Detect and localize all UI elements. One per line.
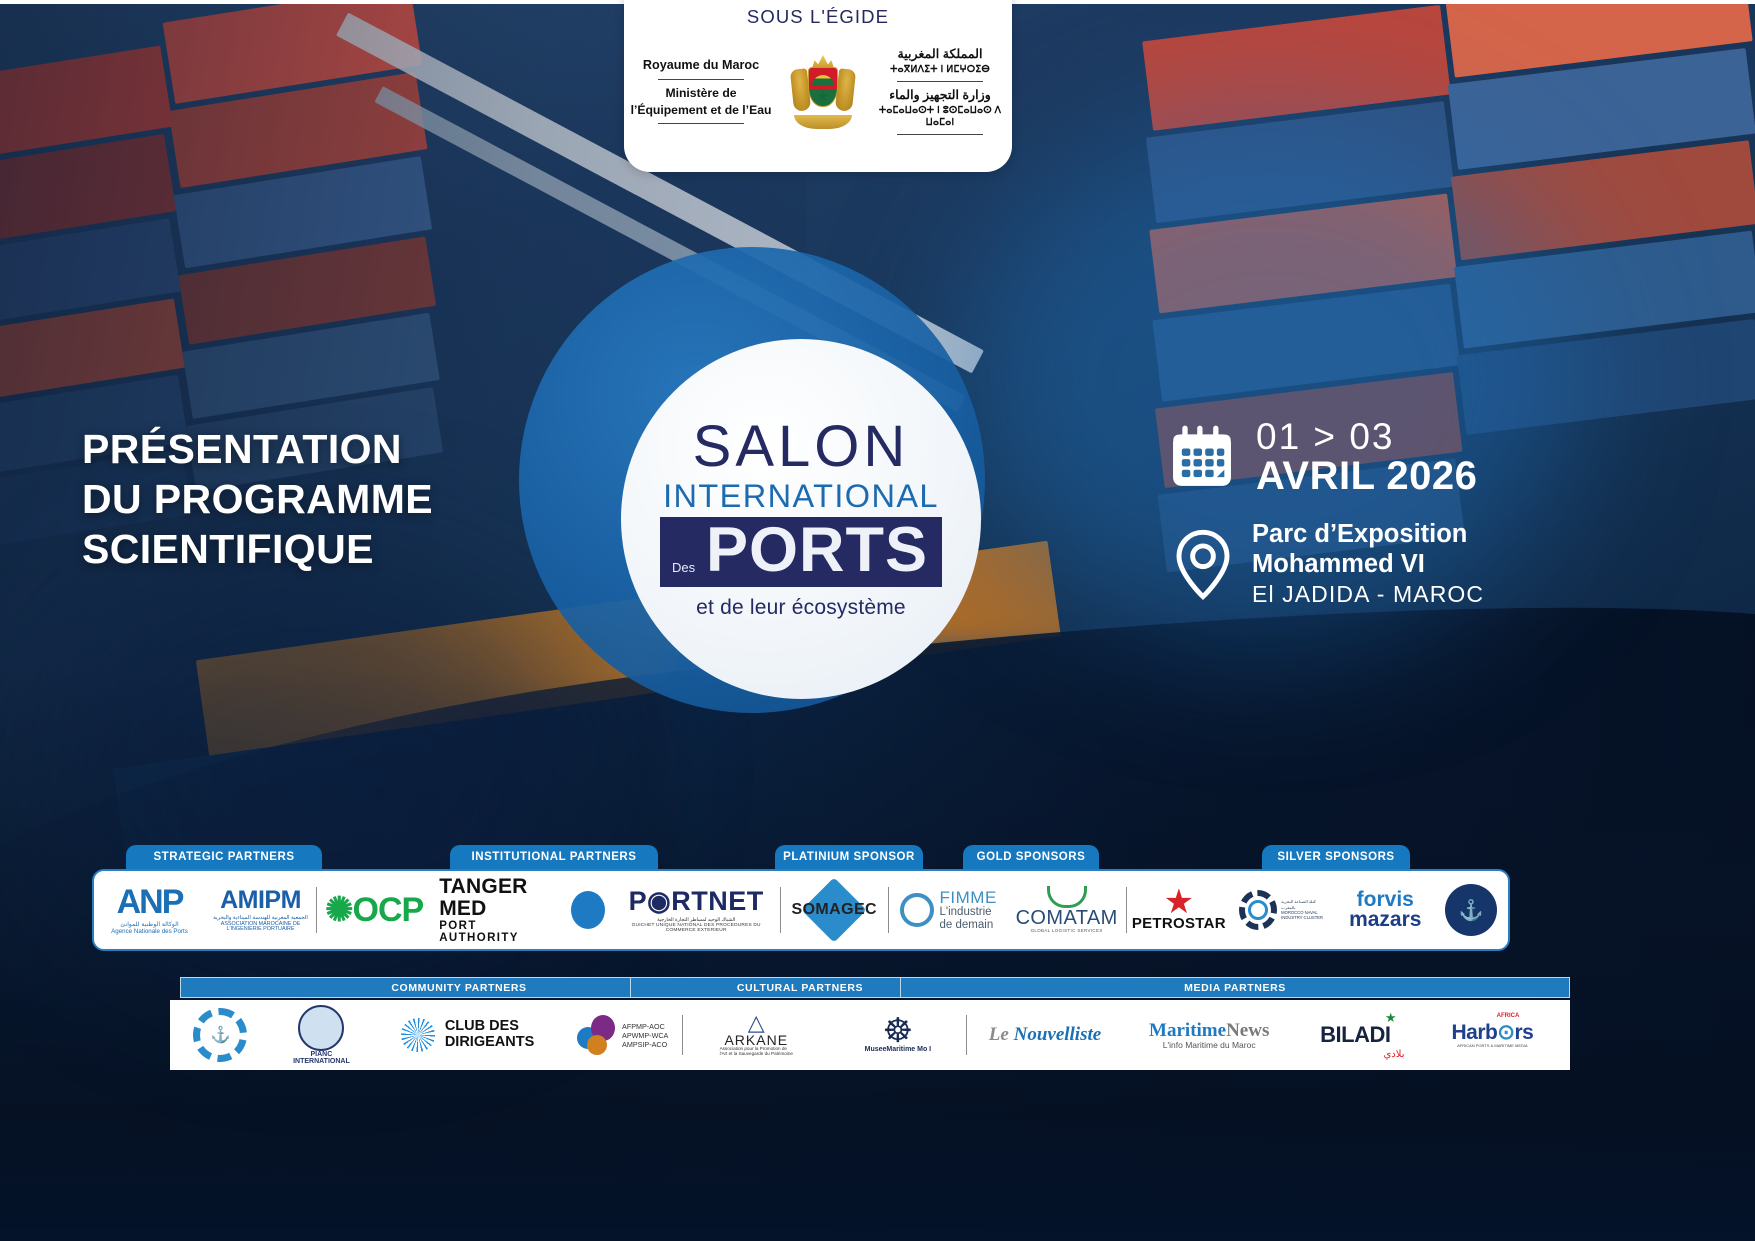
- divider-ar-bottom: [897, 134, 983, 135]
- kingdom-label-tifinagh: ⵜⴰⴳⵍⴷⵉⵜ ⵏ ⵍⵎⵖⵔⵉⴱ: [870, 63, 1010, 76]
- logo-tanger-med-mark[interactable]: [563, 871, 613, 949]
- event-logo: SALON INTERNATIONAL Des PORTS et de leur…: [621, 339, 981, 699]
- logo-ports-block: Des PORTS: [660, 517, 942, 587]
- logo-portnet[interactable]: P◉RTNET الشباك الوحيد لمساطر التجارة الخ…: [613, 871, 780, 949]
- venue-line-1: Parc d’Exposition: [1252, 520, 1484, 550]
- tab-platinium-sponsor[interactable]: PLATINIUM SPONSOR: [775, 845, 923, 869]
- patronage-row: Royaume du Maroc Ministère de l’Équipeme…: [626, 46, 1010, 140]
- divider-fr-top: [658, 79, 744, 80]
- tab-strategic-partners[interactable]: STRATEGIC PARTNERS: [126, 845, 322, 869]
- ministry-label-fr-2: l’Équipement et de l’Eau: [626, 102, 776, 118]
- venue-line-3: El JADIDA - MAROC: [1252, 580, 1484, 610]
- logo-le-nouvelliste[interactable]: Le Nouvelliste: [967, 1000, 1122, 1070]
- divider-fr-bottom: [658, 123, 744, 124]
- kingdom-label-fr: Royaume du Maroc: [626, 57, 776, 74]
- ministry-label-tifinagh: ⵜⴰⵎⴰⵡⴰⵙⵜ ⵏ ⵓⵙⵎⴰⵡⴰⵙ ⴷ ⵡⴰⵎⴰⵏ: [870, 104, 1010, 129]
- ministry-french-block: Royaume du Maroc Ministère de l’Équipeme…: [626, 57, 776, 129]
- tab-gold-sponsors[interactable]: GOLD SPONSORS: [963, 845, 1099, 869]
- logo-pianc-international[interactable]: PIANCINTERNATIONAL: [271, 1000, 372, 1070]
- venue-line-2: Mohammed VI: [1252, 550, 1484, 580]
- logo-chambre-commerce-casablanca[interactable]: ⚓: [1434, 871, 1508, 949]
- page-title: PRÉSENTATION DU PROGRAMME SCIENTIFIQUE: [82, 424, 433, 574]
- event-venue-text: Parc d’Exposition Mohammed VI El JADIDA …: [1252, 520, 1484, 610]
- location-pin-icon: [1174, 529, 1232, 601]
- ministry-label-fr-1: Ministère de: [626, 85, 776, 101]
- logo-ocp[interactable]: ✺OCP: [317, 871, 431, 949]
- morocco-coat-of-arms-icon: ★: [790, 55, 856, 131]
- logo-tanger-med[interactable]: TANGER MED PORT AUTHORITY: [431, 871, 563, 949]
- event-venue-row: Parc d’Exposition Mohammed VI El JADIDA …: [1168, 520, 1484, 610]
- sponsor-logo-strip-1: ANP الوكالة الوطنية للموانئAgence Nation…: [92, 869, 1510, 951]
- kingdom-label-ar: المملكة المغربية: [870, 46, 1010, 63]
- sponsor-tabs-row-1: STRATEGIC PARTNERS INSTITUTIONAL PARTNER…: [0, 845, 1755, 869]
- logo-forvis-mazars[interactable]: forvis mazars: [1336, 871, 1434, 949]
- page-title-line-3: SCIENTIFIQUE: [82, 524, 433, 574]
- logo-pmawca-agpaoc[interactable]: ⚓: [170, 1000, 271, 1070]
- ministry-arabic-block: المملكة المغربية ⵜⴰⴳⵍⴷⵉⵜ ⵏ ⵍⵎⵖⵔⵉⴱ وزارة …: [870, 46, 1010, 140]
- poster-root: SOUS L'ÉGIDE Royaume du Maroc Ministère …: [0, 0, 1755, 1241]
- tab-silver-sponsors[interactable]: SILVER SPONSORS: [1262, 845, 1410, 869]
- event-date-text: 01 > 03 AVRIL 2026: [1256, 418, 1477, 498]
- calendar-icon: [1168, 425, 1236, 491]
- logo-des-text: Des: [672, 560, 695, 575]
- event-date-range: 01 > 03: [1256, 418, 1477, 455]
- logo-biladi[interactable]: BILADI ★ بلادي: [1296, 1000, 1415, 1070]
- logo-international-text: INTERNATIONAL: [663, 480, 939, 513]
- logo-salon-text: SALON: [693, 418, 910, 476]
- sponsor-logo-strip-2: ⚓ PIANCINTERNATIONAL CLUB DES DIRIGEANTS: [170, 1000, 1570, 1070]
- page-title-line-1: PRÉSENTATION: [82, 424, 433, 474]
- logo-arkane[interactable]: △ ARKANE Association pour la Promotion d…: [683, 1000, 829, 1070]
- event-date-month: AVRIL 2026: [1256, 455, 1477, 498]
- logo-maritime-news[interactable]: MaritimeNews L'info Maritime du Maroc: [1123, 1000, 1296, 1070]
- logo-musee-maritime[interactable]: ☸ MuseeMaritime Mo I: [829, 1000, 966, 1070]
- logo-somagec[interactable]: SOMAGEC: [781, 871, 888, 949]
- patronage-plaque: SOUS L'ÉGIDE Royaume du Maroc Ministère …: [624, 0, 1012, 172]
- logo-petrostar[interactable]: ★ PETROSTAR: [1127, 871, 1231, 949]
- logo-afpmp-aoc[interactable]: AFPMP-AOCAPWMP-WCAAMPSIP-ACO: [563, 1000, 682, 1070]
- logo-amipm[interactable]: AMIPM الجمعية المغربية للهندسة الميناءية…: [205, 871, 316, 949]
- logo-morocco-naval-industry-cluster[interactable]: كتلة الصناعة البحرية بالمغربMOROCCO NAVA…: [1231, 871, 1336, 949]
- logo-club-des-dirigeants[interactable]: CLUB DES DIRIGEANTS: [372, 1000, 563, 1070]
- event-date-row: 01 > 03 AVRIL 2026: [1168, 418, 1484, 498]
- sponsor-tabs-row-2: COMMUNITY PARTNERS CULTURAL PARTNERS MED…: [0, 977, 1755, 998]
- logo-africa-harbors[interactable]: Harb⊙rs AFRICA AFRICAN PORTS & MARITIME …: [1415, 1000, 1570, 1070]
- ministry-label-ar: وزارة التجهيز والماء: [870, 87, 1010, 104]
- tab-media-partners[interactable]: MEDIA PARTNERS: [900, 977, 1570, 998]
- logo-anp[interactable]: ANP الوكالة الوطنية للموانئAgence Nation…: [94, 871, 205, 949]
- patronage-title: SOUS L'ÉGIDE: [747, 6, 889, 28]
- logo-tagline: et de leur écosystème: [696, 596, 906, 620]
- page-title-line-2: DU PROGRAMME: [82, 474, 433, 524]
- logo-comatam[interactable]: COMATAM GLOBAL LOGISTIC SERVICES: [1007, 871, 1125, 949]
- tab-institutional-partners[interactable]: INSTITUTIONAL PARTNERS: [450, 845, 658, 869]
- logo-ports-text: PORTS: [706, 521, 928, 581]
- event-info: 01 > 03 AVRIL 2026 Parc d’Exposition Moh…: [1168, 418, 1484, 610]
- divider-ar-top: [897, 81, 983, 82]
- logo-fimme[interactable]: FIMME L'industrie de demain: [889, 871, 1007, 949]
